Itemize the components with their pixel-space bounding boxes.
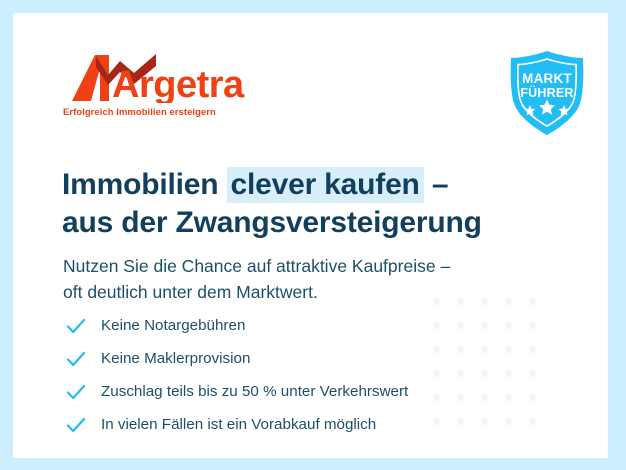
headline-part1: Immobilien [62,168,227,201]
headline-line2: aus der Zwangsversteigerung [62,206,482,239]
market-leader-badge: MARKT FÜHRER [505,49,589,137]
banner-frame: Argetra Erfolgreich Immobilien ersteiger… [0,0,626,470]
check-icon [65,414,87,436]
badge-line2: FÜHRER [520,85,573,100]
subheading-line2: oft deutlich unter dem Marktwert. [63,282,318,302]
list-item: In vielen Fällen ist ein Vorabkauf mögli… [65,410,545,439]
benefit-label: Zuschlag teils bis zu 50 % unter Verkehr… [101,384,408,399]
benefit-label: Keine Notargebühren [101,318,245,333]
badge-line1: MARKT [522,71,572,86]
check-icon [65,315,87,337]
argetra-logo[interactable]: Argetra Erfolgreich Immobilien ersteiger… [60,53,260,121]
svg-text:Argetra: Argetra [112,64,245,103]
subheading-line1: Nutzen Sie die Chance auf attraktive Kau… [63,256,450,276]
shield-icon: MARKT FÜHRER [505,49,589,137]
headline-highlight: clever kaufen [227,167,424,203]
list-item: Keine Notargebühren [65,311,545,340]
list-item: Zuschlag teils bis zu 50 % unter Verkehr… [65,377,545,406]
page-title: Immobilien clever kaufen – aus der Zwang… [62,166,562,243]
list-item: Keine Maklerprovision [65,344,545,373]
subheading: Nutzen Sie die Chance auf attraktive Kau… [63,253,563,306]
check-icon [65,381,87,403]
logo-tagline: Erfolgreich Immobilien ersteigern [63,106,216,117]
banner-card: Argetra Erfolgreich Immobilien ersteiger… [13,13,608,458]
benefits-list: Keine Notargebühren Keine Maklerprovisio… [65,311,545,443]
benefit-label: Keine Maklerprovision [101,351,250,366]
argetra-logo-icon: Argetra [60,53,260,103]
headline-part2: – [424,168,449,201]
benefit-label: In vielen Fällen ist ein Vorabkauf mögli… [101,417,376,432]
check-icon [65,348,87,370]
